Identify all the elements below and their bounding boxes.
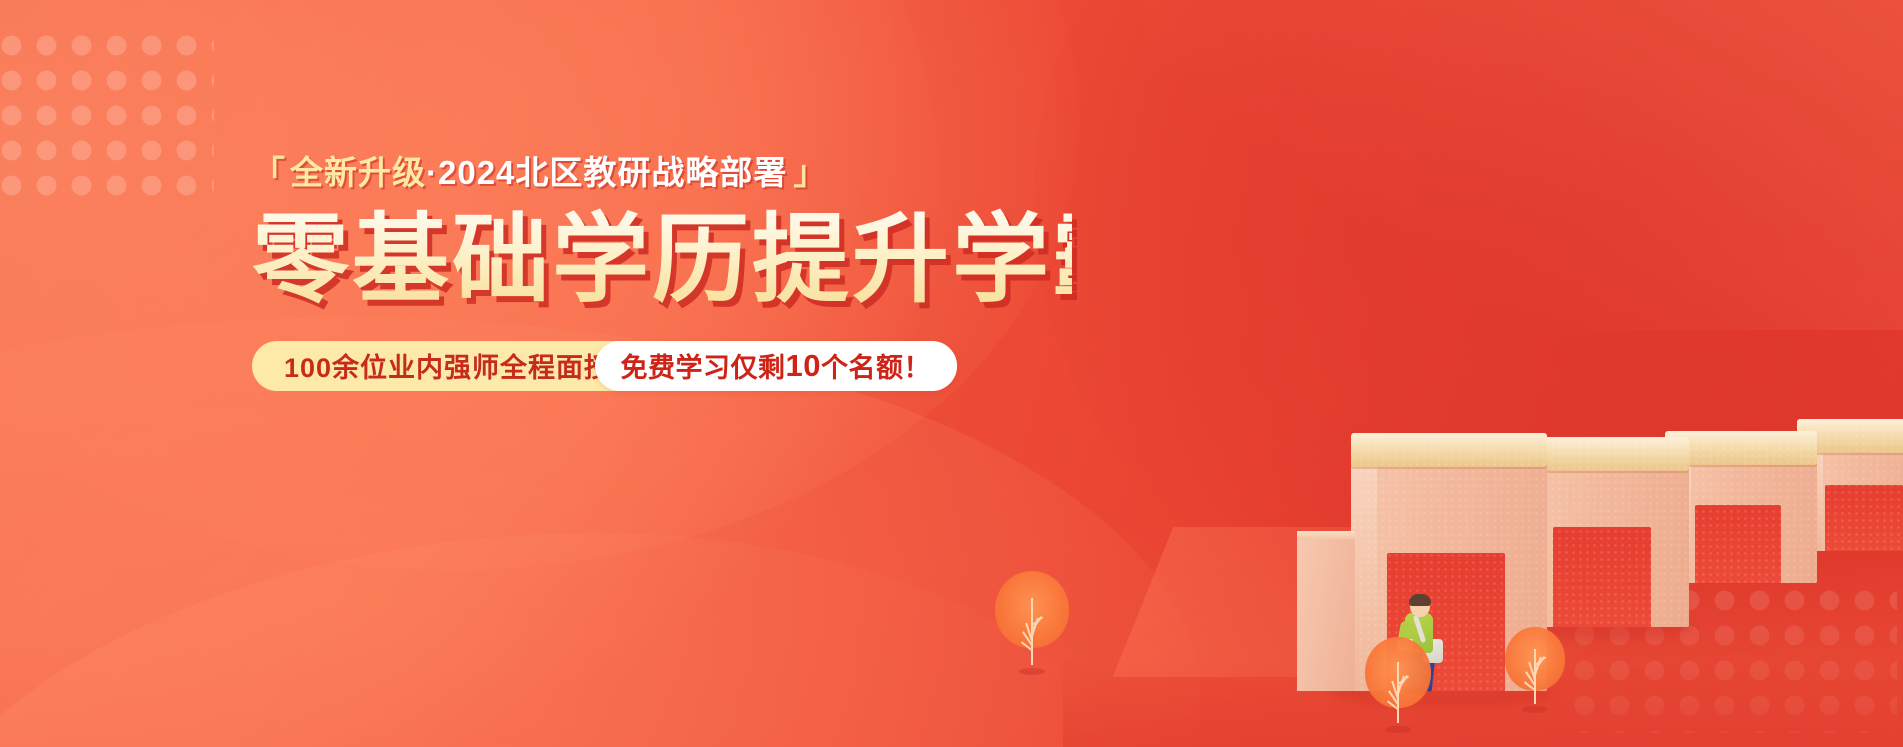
background-diagonal-band: [0, 483, 1142, 747]
bracket-left-icon: 「: [252, 153, 286, 193]
feature-pill-row: 100余位业内强师全程面授 免费学习仅剩10个名额！: [252, 341, 957, 391]
badge-count: 10: [786, 348, 821, 384]
tree-1-icon: [995, 571, 1069, 675]
subtitle-rest: 2024北区教研战略部署: [438, 153, 787, 193]
banner-subtitle: 「 全新升级 · 2024北区教研战略部署 」: [252, 150, 1072, 196]
banner-content: 「 全新升级 · 2024北区教研战略部署 」 零基础学历提升学霸班 100余位…: [252, 150, 1072, 391]
tree-3-icon: [1505, 627, 1565, 713]
feature-pill-label: 100余位业内强师全程面授: [284, 341, 612, 391]
subtitle-separator: ·: [426, 153, 438, 193]
promo-banner: 「 全新升级 · 2024北区教研战略部署 」 零基础学历提升学霸班 100余位…: [0, 0, 1903, 747]
bracket-right-icon: 」: [793, 153, 827, 193]
tree-2-icon: [1365, 637, 1431, 733]
subtitle-highlight: 全新升级: [290, 153, 426, 193]
badge-prefix: 免费学习仅剩: [621, 346, 786, 385]
page-title: 零基础学历提升学霸班: [252, 208, 1072, 313]
dot-grid-top-left-icon: [0, 28, 214, 210]
badge-suffix: 个名额！: [821, 346, 931, 385]
side-pillar: [1297, 531, 1355, 691]
status-badge: 免费学习仅剩10个名额！: [595, 341, 957, 391]
